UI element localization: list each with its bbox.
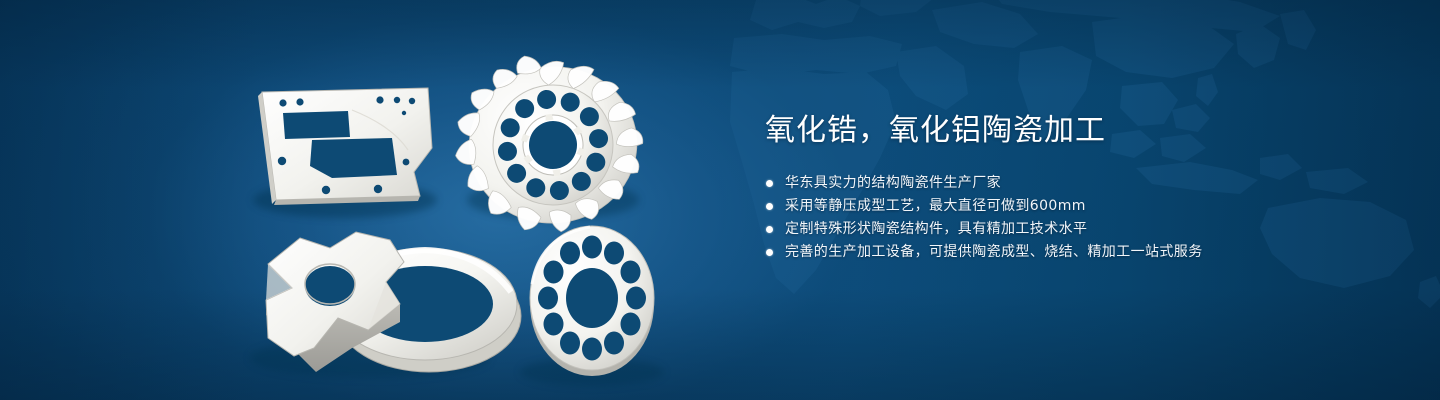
page-title: 氧化锆，氧化铝陶瓷加工 [765,112,1325,150]
banner-copy: 氧化锆，氧化铝陶瓷加工 华东具实力的结构陶瓷件生产厂家 采用等静压成型工艺，最大… [765,112,1325,264]
list-item: 华东具实力的结构陶瓷件生产厂家 [765,172,1325,195]
bullet-dot-icon [766,180,773,187]
bullet-dot-icon [766,203,773,210]
ceramic-impeller-disc [443,41,654,244]
list-item-label: 采用等静压成型工艺，最大直径可做到600mm [785,198,1086,214]
list-item: 定制特殊形状陶瓷结构件，具有精加工技术水平 [765,218,1325,241]
feature-list: 华东具实力的结构陶瓷件生产厂家 采用等静压成型工艺，最大直径可做到600mm 定… [765,172,1325,264]
list-item-label: 定制特殊形状陶瓷结构件，具有精加工技术水平 [785,221,1087,237]
bullet-dot-icon [766,226,773,233]
bullet-dot-icon [766,249,773,256]
product-photo-cluster [0,0,760,400]
ceramic-perforated-ring [530,226,654,376]
ceramic-machined-plate [258,88,432,205]
list-item-label: 完善的生产加工设备，可提供陶瓷成型、烧结、精加工一站式服务 [785,244,1203,260]
list-item: 完善的生产加工设备，可提供陶瓷成型、烧结、精加工一站式服务 [765,241,1325,264]
list-item-label: 华东具实力的结构陶瓷件生产厂家 [785,175,1001,191]
hero-banner: 氧化锆，氧化铝陶瓷加工 华东具实力的结构陶瓷件生产厂家 采用等静压成型工艺，最大… [0,0,1440,400]
list-item: 采用等静压成型工艺，最大直径可做到600mm [765,195,1325,218]
